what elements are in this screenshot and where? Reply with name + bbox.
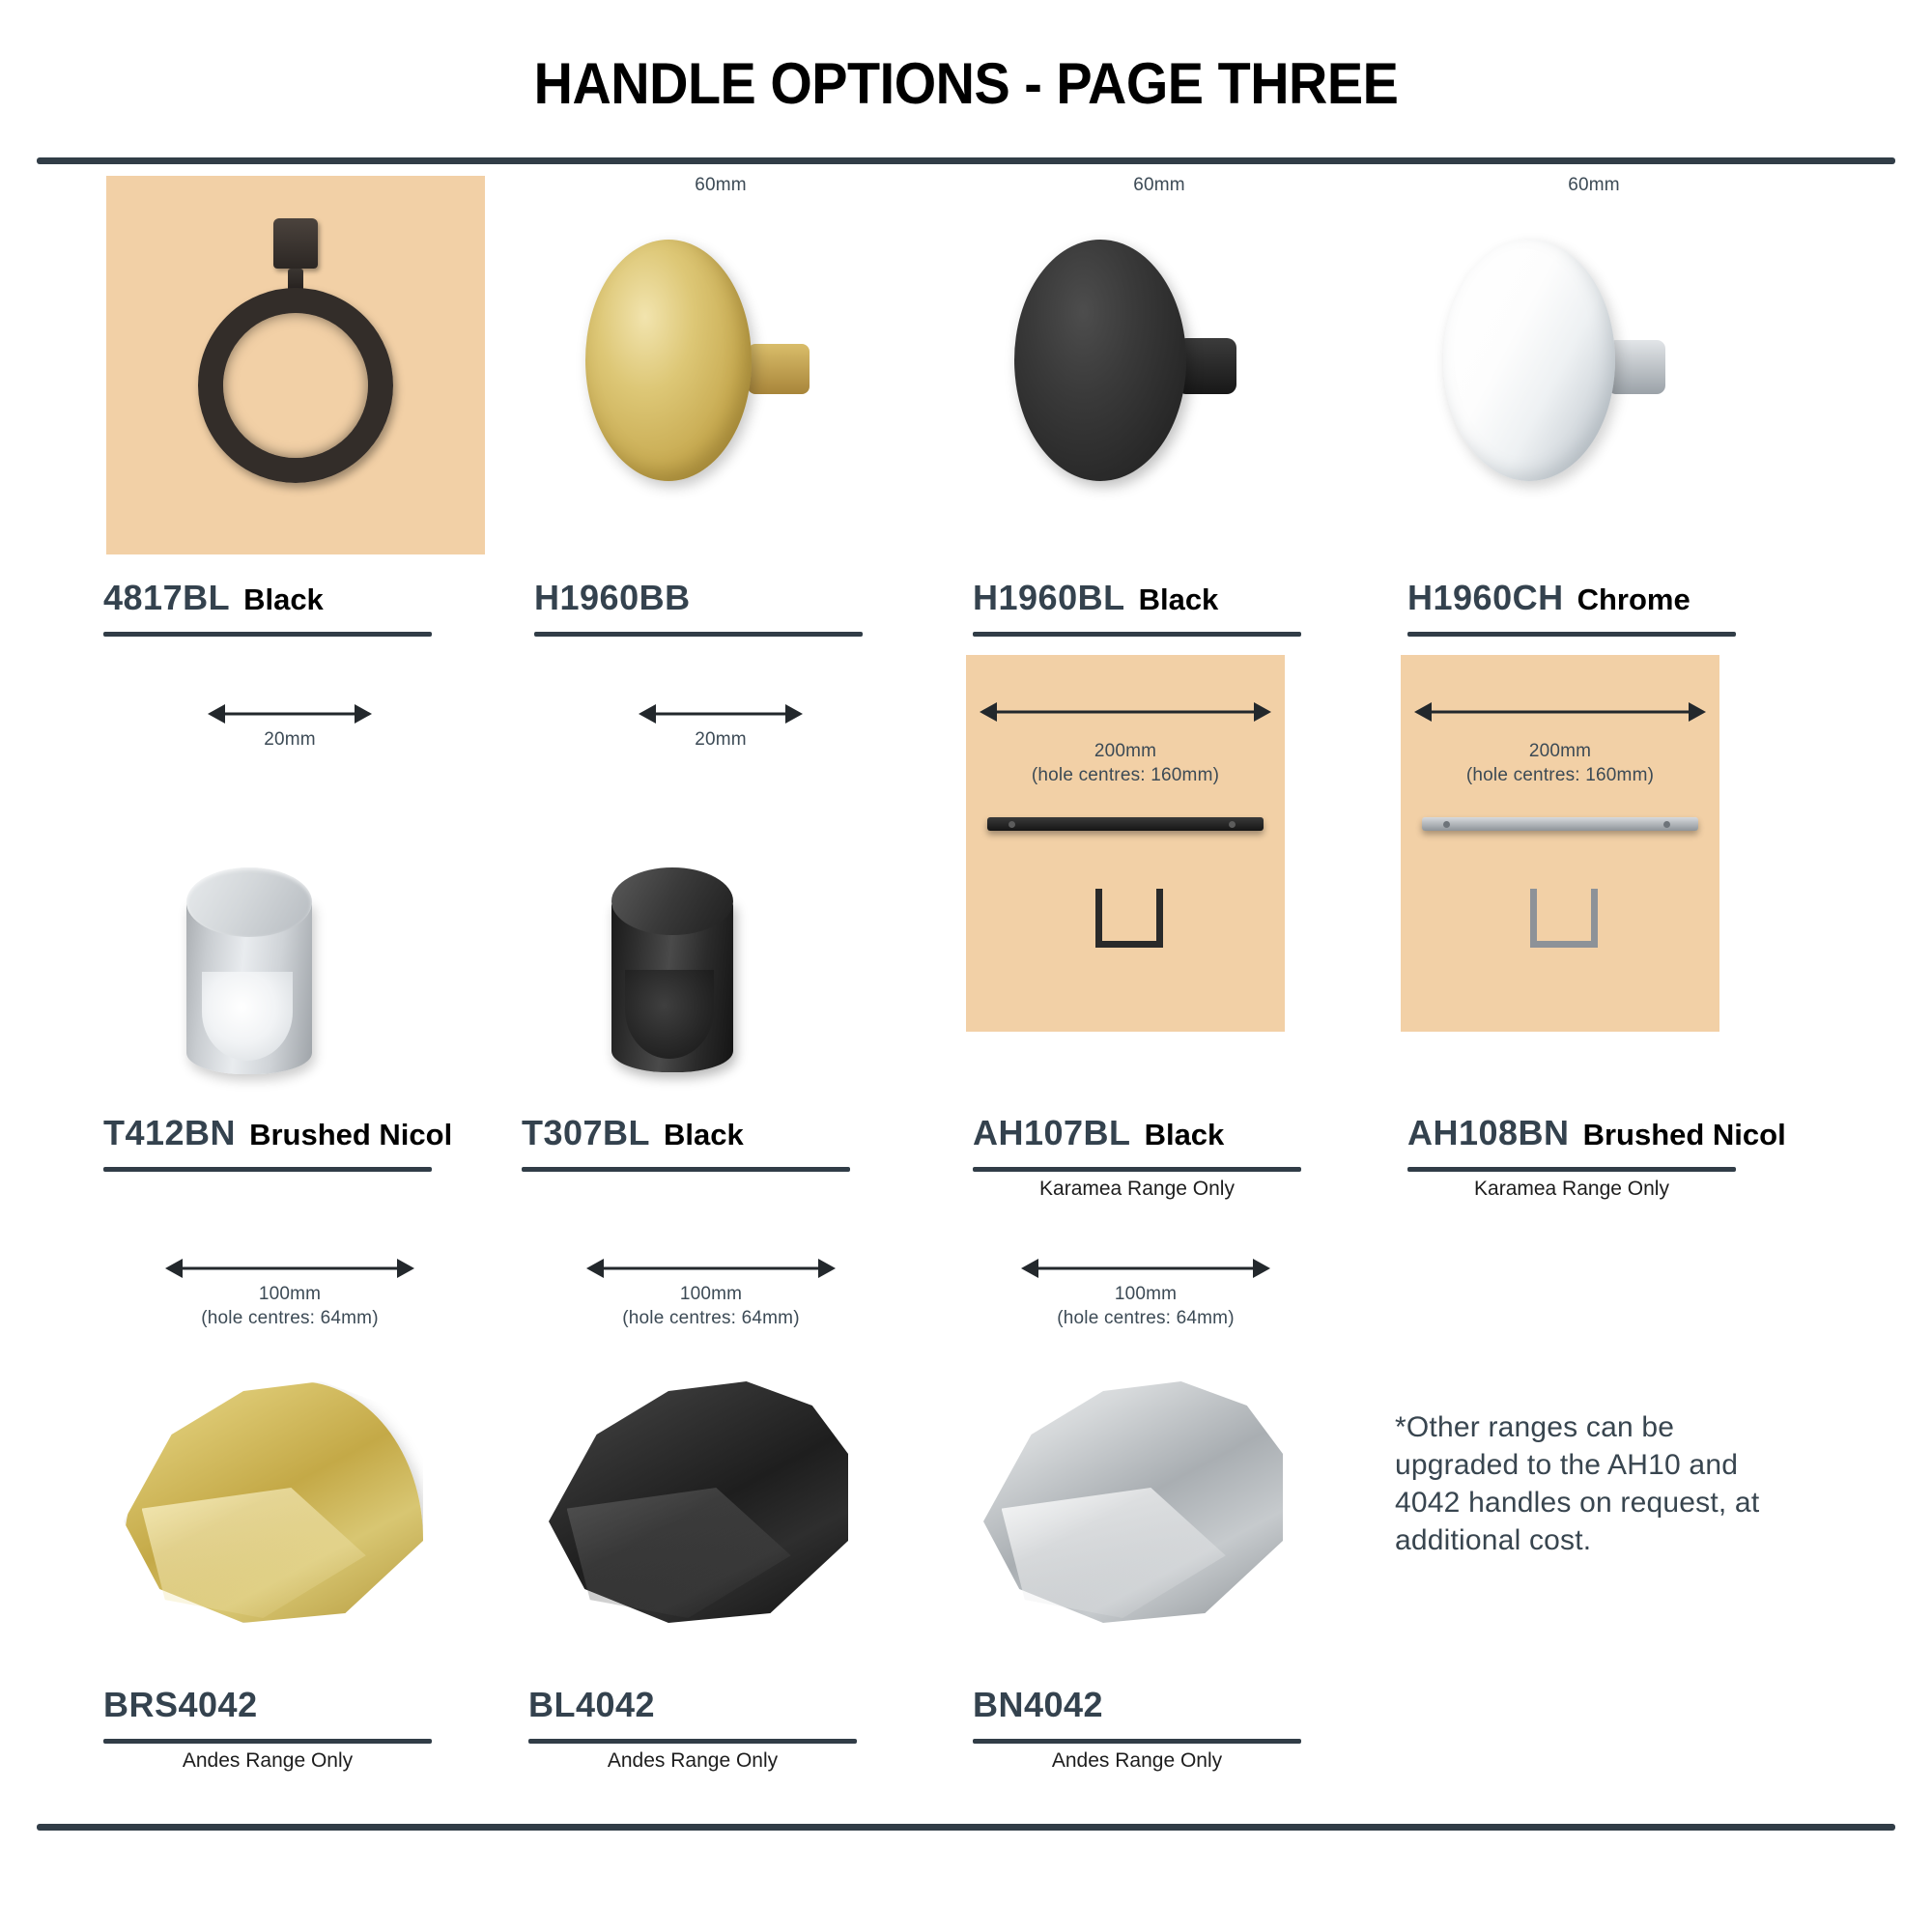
dimension-arrow — [1021, 1258, 1270, 1279]
label-underline — [973, 632, 1301, 637]
label-underline — [534, 632, 863, 637]
dimension-sub: (hole centres: 64mm) — [97, 1307, 483, 1331]
dimension-value: 60mm — [1401, 174, 1787, 198]
product-code: H1960CH — [1407, 578, 1564, 618]
product-label-4817bl: 4817BL Black — [103, 578, 432, 637]
dimension-sub: (hole centres: 64mm) — [952, 1307, 1339, 1331]
dimension-arrow — [1414, 701, 1706, 723]
label-underline — [528, 1739, 857, 1744]
product-photo-h1960ch — [1443, 240, 1733, 500]
dimension-arrow — [208, 703, 372, 724]
range-note: Karamea Range Only — [1407, 1178, 1736, 1201]
dimension-arrow — [980, 701, 1271, 723]
product-photo-bl4042 — [549, 1381, 848, 1623]
product-code: H1960BB — [534, 578, 691, 618]
product-photo-h1960bl — [1014, 240, 1304, 500]
product-label-h1960ch: H1960CH Chrome — [1407, 578, 1736, 637]
product-label-brs4042: BRS4042 Andes Range Only — [103, 1685, 432, 1773]
product-photo-ah107bl: 200mm (hole centres: 160mm) — [966, 655, 1285, 1032]
dimension-value: 200mm — [1094, 741, 1156, 761]
dimension-caption: 60mm — [966, 174, 1352, 198]
product-label-h1960bl: H1960BL Black — [973, 578, 1301, 637]
label-underline — [973, 1739, 1301, 1744]
dimension-caption: 100mm (hole centres: 64mm) — [518, 1258, 904, 1330]
product-code: AH107BL — [973, 1113, 1131, 1153]
handle-options-page: HANDLE OPTIONS - PAGE THREE 50mm 60mm 60… — [0, 0, 1932, 1932]
dimension-sub: (hole centres: 160mm) — [1032, 765, 1219, 785]
product-photo-t412bn — [186, 867, 312, 1099]
product-code: AH108BN — [1407, 1113, 1570, 1153]
bottom-divider — [37, 1824, 1895, 1831]
dimension-caption: 60mm — [1401, 174, 1787, 198]
product-label-bl4042: BL4042 Andes Range Only — [528, 1685, 857, 1773]
product-finish: Brushed Nicol — [1583, 1118, 1786, 1152]
product-label-t307bl: T307BL Black — [522, 1113, 850, 1172]
bar-handle-icon — [1422, 817, 1698, 831]
product-photo-bn4042 — [983, 1381, 1283, 1623]
dimension-caption: 200mm (hole centres: 160mm) — [1401, 740, 1719, 787]
range-note: Andes Range Only — [103, 1749, 432, 1773]
upgrade-note: *Other ranges can be upgraded to the AH1… — [1395, 1408, 1781, 1559]
product-photo-t307bl — [611, 867, 733, 1099]
product-code: BL4042 — [528, 1685, 655, 1725]
product-finish: Black — [664, 1118, 744, 1152]
product-code: BN4042 — [973, 1685, 1103, 1725]
product-finish: Chrome — [1577, 582, 1690, 617]
dimension-caption: 20mm — [97, 703, 483, 753]
dimension-value: 100mm — [97, 1283, 483, 1307]
dimension-value: 60mm — [527, 174, 914, 198]
dimension-arrow — [165, 1258, 414, 1279]
label-underline — [1407, 1167, 1736, 1172]
dimension-arrow — [639, 703, 803, 724]
dimension-value: 20mm — [527, 728, 914, 753]
product-photo-brs4042 — [124, 1381, 423, 1623]
label-underline — [103, 1167, 432, 1172]
product-code: T412BN — [103, 1113, 236, 1153]
label-underline — [103, 1739, 432, 1744]
top-divider — [37, 157, 1895, 164]
product-finish: Brushed Nicol — [249, 1118, 452, 1152]
product-code: BRS4042 — [103, 1685, 258, 1725]
page-title: HANDLE OPTIONS - PAGE THREE — [68, 50, 1864, 117]
dimension-caption: 100mm (hole centres: 64mm) — [97, 1258, 483, 1330]
label-underline — [103, 632, 432, 637]
dimension-caption: 100mm (hole centres: 64mm) — [952, 1258, 1339, 1330]
product-finish: Black — [1139, 582, 1219, 617]
product-label-h1960bb: H1960BB — [534, 578, 863, 637]
range-note: Karamea Range Only — [973, 1178, 1301, 1201]
product-finish: Black — [1145, 1118, 1225, 1152]
range-note: Andes Range Only — [528, 1749, 857, 1773]
dimension-caption: 20mm — [527, 703, 914, 753]
range-note: Andes Range Only — [973, 1749, 1301, 1773]
product-photo-ah108bn: 200mm (hole centres: 160mm) — [1401, 655, 1719, 1032]
product-photo-4817bl — [106, 176, 485, 554]
dimension-sub: (hole centres: 160mm) — [1466, 765, 1654, 785]
dimension-arrow — [586, 1258, 836, 1279]
bar-handle-foot-icon — [1095, 889, 1163, 948]
product-code: H1960BL — [973, 578, 1125, 618]
product-label-ah108bn: AH108BN Brushed Nicol Karamea Range Only — [1407, 1113, 1736, 1201]
dimension-value: 20mm — [97, 728, 483, 753]
dimension-caption: 200mm (hole centres: 160mm) — [966, 740, 1285, 787]
product-code: 4817BL — [103, 578, 230, 618]
dimension-value: 100mm — [518, 1283, 904, 1307]
product-label-t412bn: T412BN Brushed Nicol — [103, 1113, 432, 1172]
dimension-value: 100mm — [952, 1283, 1339, 1307]
product-label-ah107bl: AH107BL Black Karamea Range Only — [973, 1113, 1301, 1201]
product-finish: Black — [243, 582, 324, 617]
bar-handle-foot-icon — [1530, 889, 1598, 948]
product-label-bn4042: BN4042 Andes Range Only — [973, 1685, 1301, 1773]
dimension-sub: (hole centres: 64mm) — [518, 1307, 904, 1331]
dimension-caption: 60mm — [527, 174, 914, 198]
label-underline — [522, 1167, 850, 1172]
product-code: T307BL — [522, 1113, 650, 1153]
bar-handle-icon — [987, 817, 1264, 831]
label-underline — [1407, 632, 1736, 637]
dimension-value: 60mm — [966, 174, 1352, 198]
ring-pull-icon — [198, 218, 393, 483]
dimension-value: 200mm — [1529, 741, 1591, 761]
product-photo-h1960bb — [585, 240, 875, 500]
label-underline — [973, 1167, 1301, 1172]
